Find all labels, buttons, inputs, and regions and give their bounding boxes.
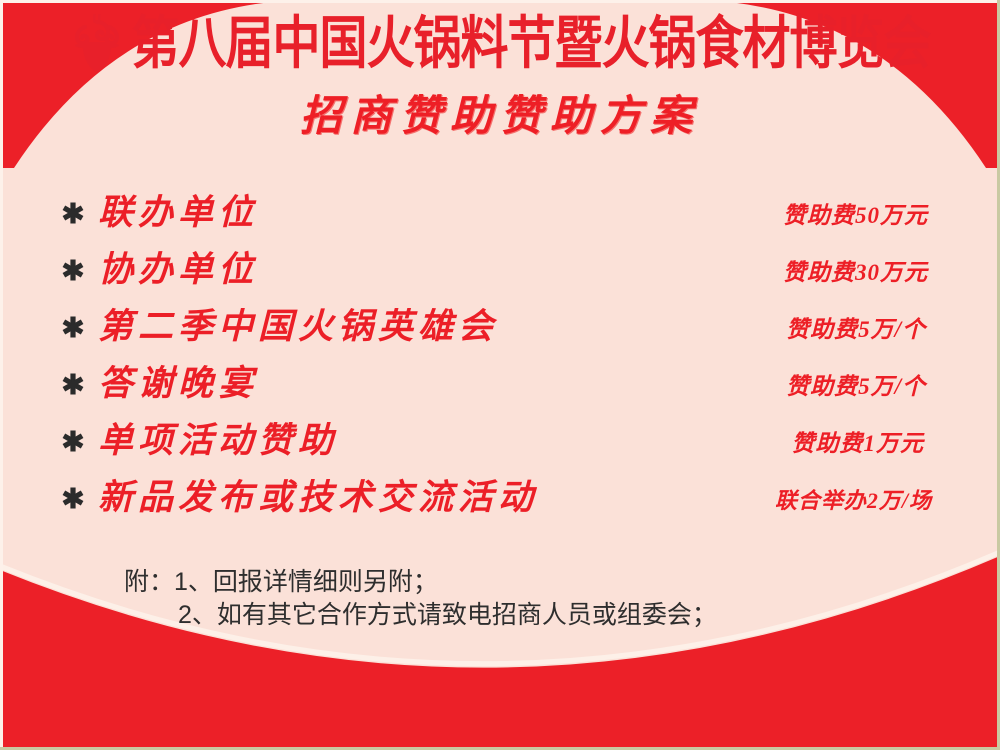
footer-notes: 附：1、回报详情细则另附； 2、如有其它合作方式请致电招商人员或组委会；	[124, 566, 884, 632]
slide-subtitle: 招商赞助赞助方案	[0, 92, 1000, 142]
asterisk-bullet-icon	[60, 371, 86, 397]
tier-name: 答谢晚宴	[98, 363, 258, 405]
asterisk-bullet-icon	[60, 485, 86, 511]
note-line-1: 附：1、回报详情细则另附；	[124, 566, 884, 599]
sponsorship-tier-list: 联办单位 赞助费50万元 协办单位 赞助费30万元	[60, 184, 940, 526]
tier-row: 新品发布或技术交流活动 联合举办2万/场	[60, 469, 940, 526]
tier-name: 单项活动赞助	[98, 420, 338, 462]
note-line-2: 2、如有其它合作方式请致电招商人员或组委会；	[124, 599, 884, 632]
presentation-slide: 第八届中国火锅料节暨火锅食材博览会 招商赞助赞助方案 联办单位 赞助费50万元	[0, 0, 1000, 750]
asterisk-bullet-icon	[60, 257, 86, 283]
tier-name: 协办单位	[98, 249, 258, 291]
asterisk-bullet-icon	[60, 314, 86, 340]
tier-price: 赞助费5万/个	[786, 372, 926, 400]
hotpot-logo-icon	[69, 14, 125, 76]
tier-row: 答谢晚宴 赞助费5万/个	[60, 355, 940, 412]
tier-price: 赞助费30万元	[783, 258, 928, 286]
tier-price: 赞助费50万元	[783, 201, 928, 229]
tier-row: 协办单位 赞助费30万元	[60, 241, 940, 298]
tier-price: 赞助费1万元	[792, 429, 925, 457]
title-row: 第八届中国火锅料节暨火锅食材博览会	[0, 14, 1000, 76]
tier-row: 联办单位 赞助费50万元	[60, 184, 940, 241]
tier-name: 新品发布或技术交流活动	[98, 477, 538, 519]
tier-name: 联办单位	[98, 192, 258, 234]
asterisk-bullet-icon	[60, 200, 86, 226]
tier-row: 单项活动赞助 赞助费1万元	[60, 412, 940, 469]
tier-price: 赞助费5万/个	[786, 315, 926, 343]
asterisk-bullet-icon	[60, 428, 86, 454]
tier-name: 第二季中国火锅英雄会	[98, 306, 498, 348]
page-title: 第八届中国火锅料节暨火锅食材博览会	[131, 12, 930, 78]
tier-row: 第二季中国火锅英雄会 赞助费5万/个	[60, 298, 940, 355]
tier-price: 联合举办2万/场	[775, 486, 932, 514]
slide-header: 第八届中国火锅料节暨火锅食材博览会 招商赞助赞助方案	[0, 0, 1000, 150]
